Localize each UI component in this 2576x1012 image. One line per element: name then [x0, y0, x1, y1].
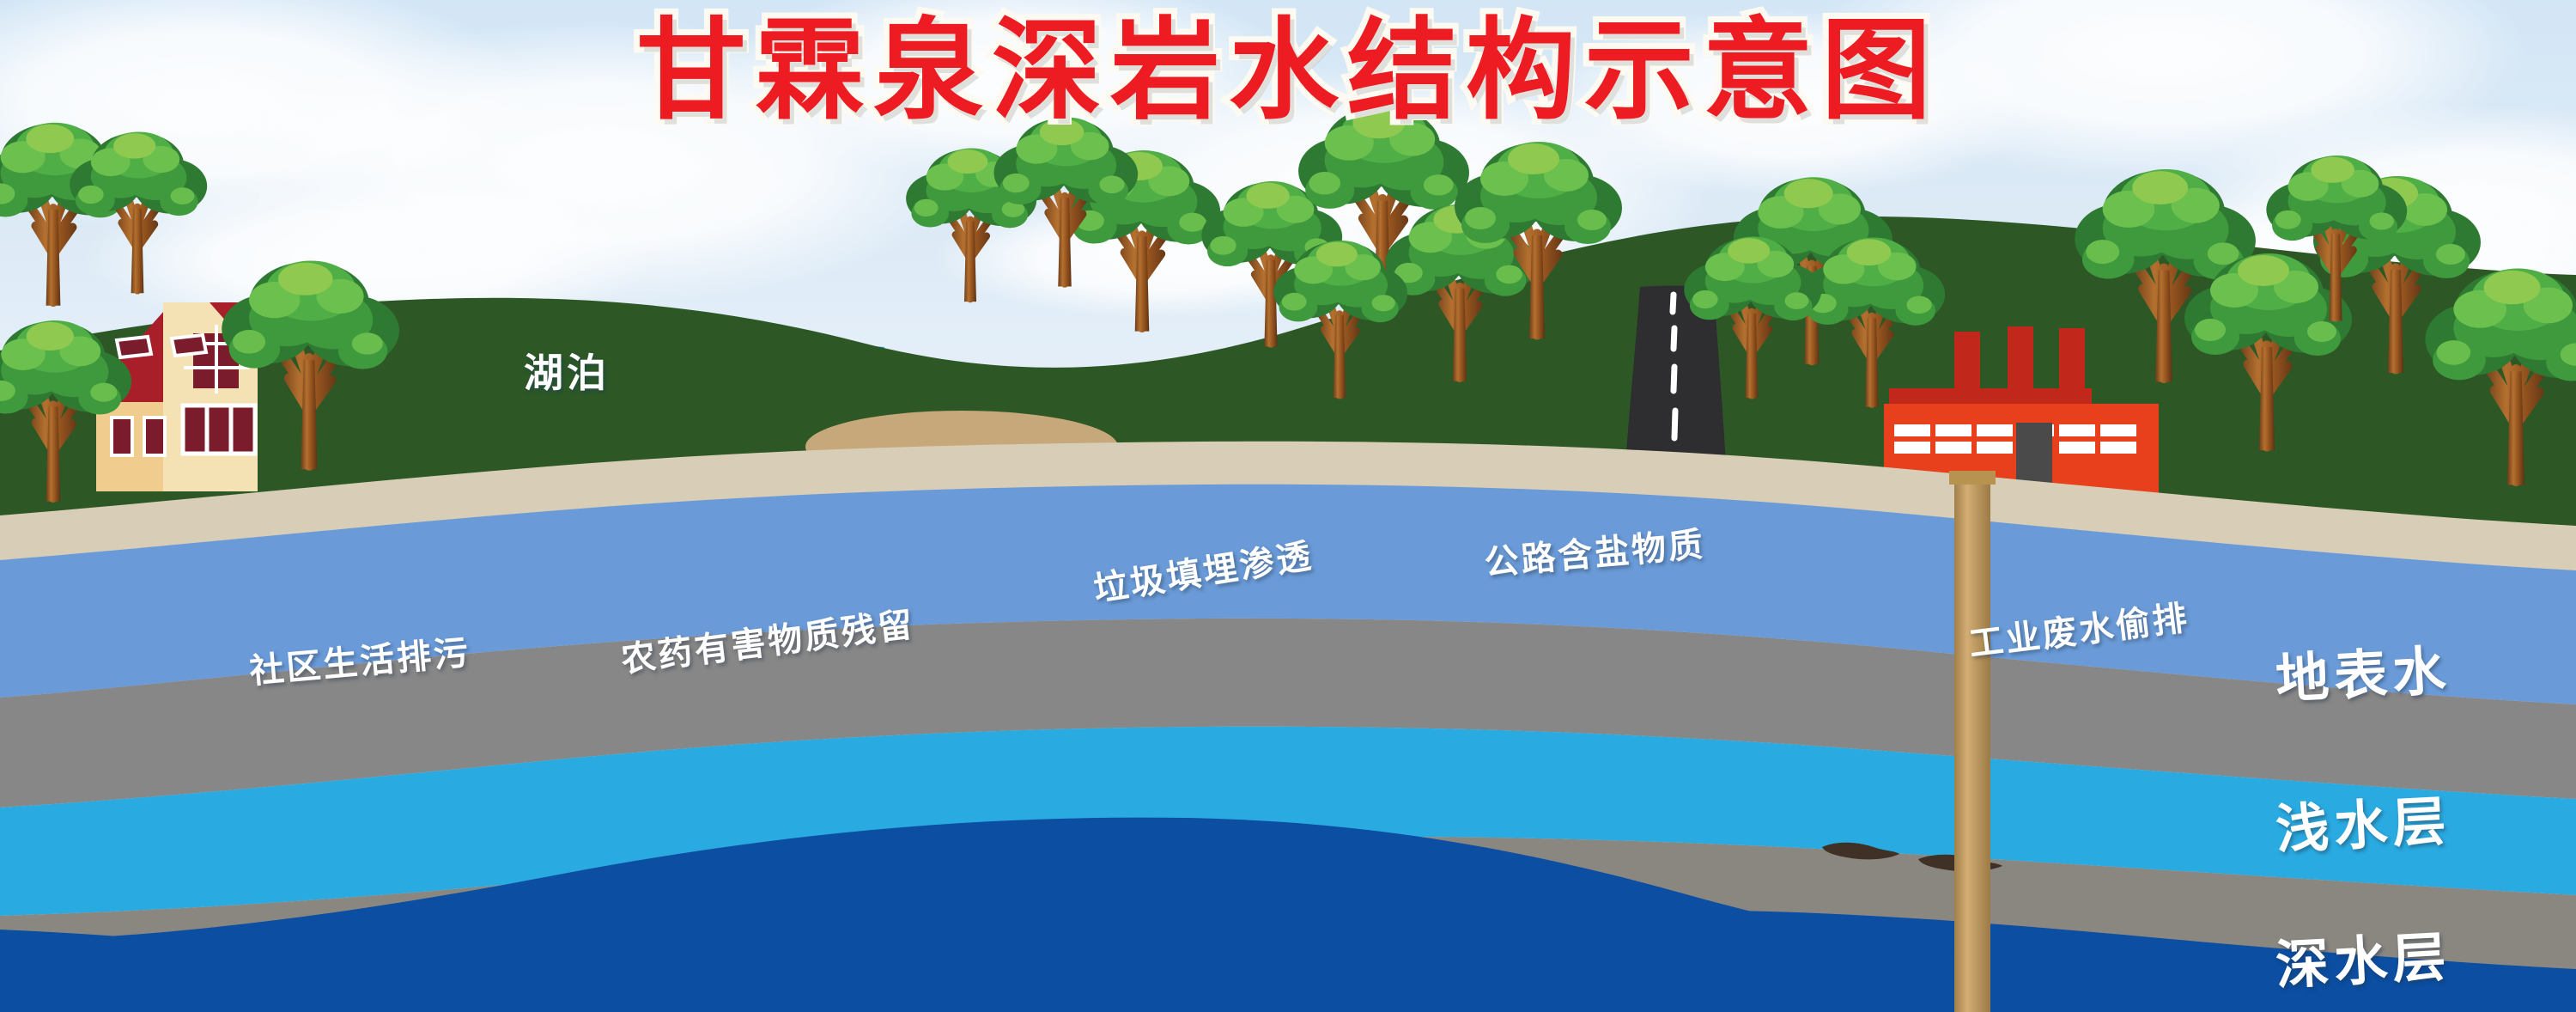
well-pipe-icon — [1954, 478, 1990, 1012]
diagram-canvas: 甘霖泉深岩水结构示意图 湖泊 社区生活排污 农药有害物质残留 垃圾填埋渗透 公路… — [0, 0, 2576, 1012]
groundwater-cross-section-illustration — [0, 0, 2576, 1012]
